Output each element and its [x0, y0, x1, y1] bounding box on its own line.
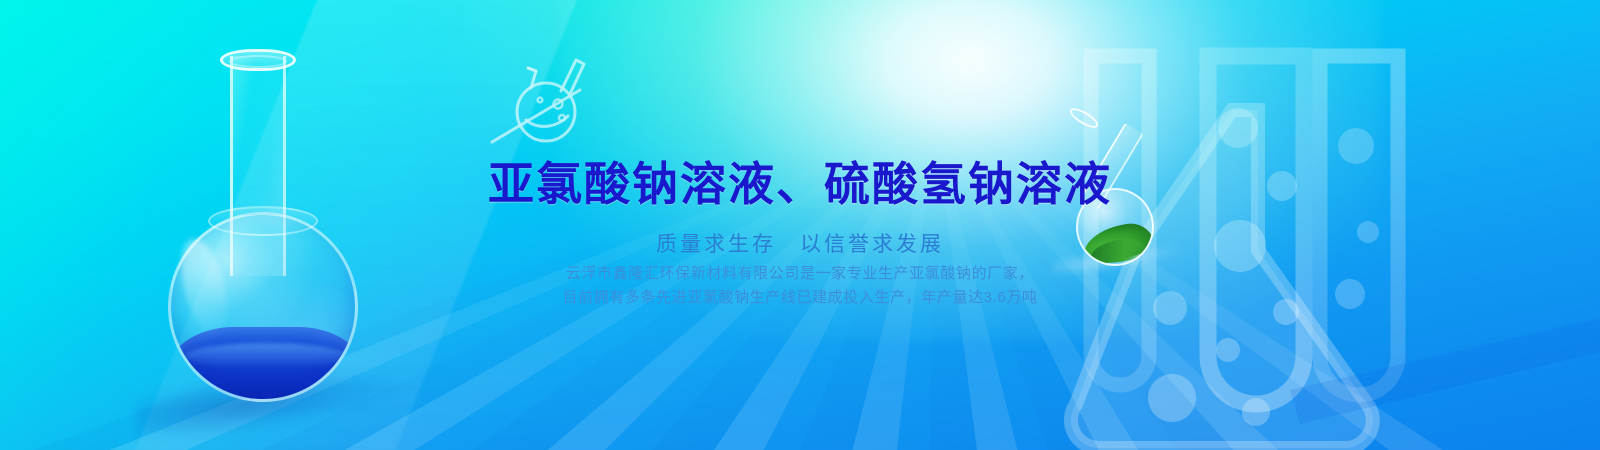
- banner-description-line-1: 云浮市鑫隆汇环保新材料有限公司是一家专业生产亚氯酸钠的厂家，: [0, 262, 1600, 283]
- banner-title: 亚氯酸钠溶液、硫酸氢钠溶液: [0, 148, 1600, 214]
- flask-liquid-highlight: [185, 343, 347, 369]
- banner-slogan: 质量求生存 以信誉求发展: [0, 228, 1600, 258]
- outline-flask-bubbles-icon: [484, 46, 600, 150]
- flask-lip-inner: [229, 55, 287, 68]
- product-banner: 亚氯酸钠溶液、硫酸氢钠溶液 质量求生存 以信誉求发展 云浮市鑫隆汇环保新材料有限…: [0, 0, 1600, 450]
- banner-description-line-2: 目前拥有多条先进亚氯酸钠生产线已建成投入生产，年产量达3.6万吨: [0, 286, 1600, 307]
